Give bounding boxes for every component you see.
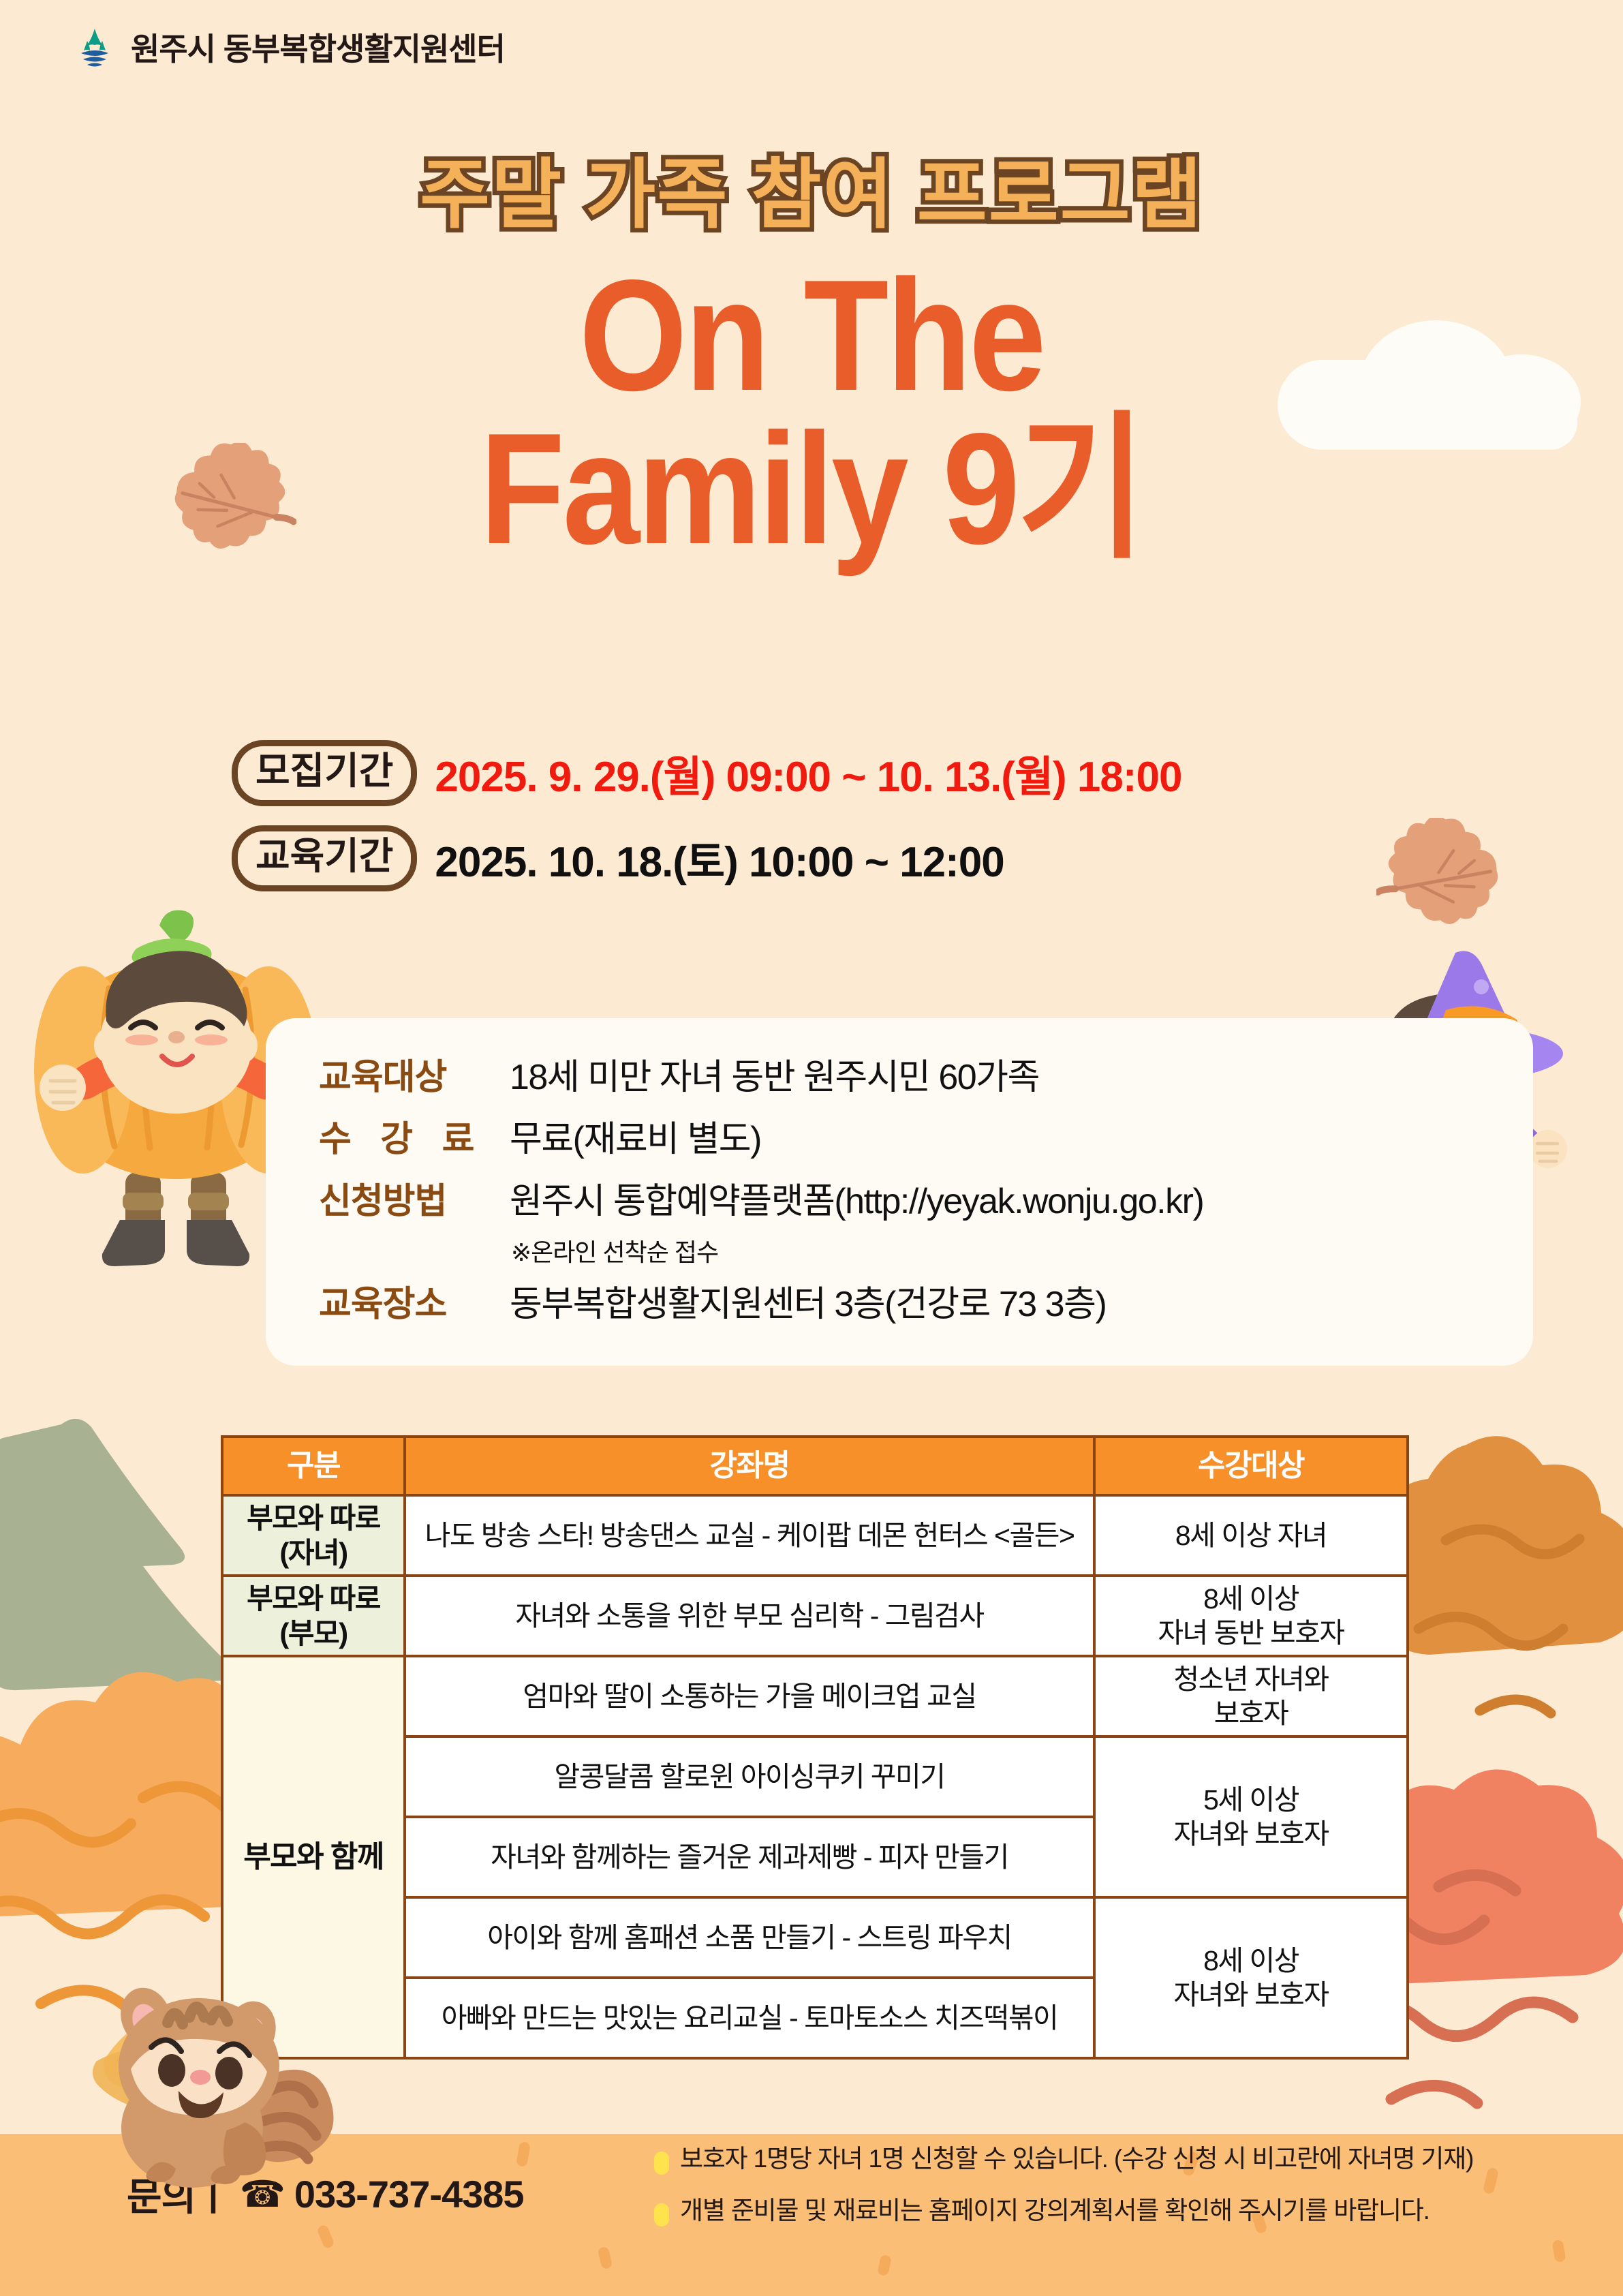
table-row: 부모와 함께 엄마와 딸이 소통하는 가을 메이크업 교실 청소년 자녀와보호자 — [222, 1656, 1408, 1736]
info-row-target: 교육대상 18세 미만 자녀 동반 원주시민 60가족 — [319, 1048, 1533, 1099]
info-value-target: 18세 미만 자녀 동반 원주시민 60가족 — [510, 1048, 1039, 1099]
footer-note-item: 보호자 1명당 자녀 1명 신청할 수 있습니다. (수강 신청 시 비고란에 … — [654, 2143, 1567, 2175]
recruit-period-row: 모집기간 2025. 9. 29.(월) 09:00 ~ 10. 13.(월) … — [232, 740, 1181, 806]
mountain-water-logo-icon — [74, 26, 116, 68]
program-title-line1: On The — [97, 259, 1526, 412]
info-value-fee: 무료(재료비 별도) — [510, 1110, 761, 1161]
table-cell-target: 8세 이상자녀 동반 보호자 — [1094, 1576, 1408, 1656]
info-value-place: 동부복합생활지원센터 3층(건강로 73 3층) — [510, 1275, 1106, 1326]
table-row: 부모와 따로(부모) 자녀와 소통을 위한 부모 심리학 - 그림검사 8세 이… — [222, 1576, 1408, 1656]
course-table-wrapper: 구분 강좌명 수강대상 부모와 따로(자녀) 나도 방송 스타! 방송댄스 교실… — [221, 1435, 1406, 2060]
table-header-group: 구분 — [222, 1437, 405, 1495]
info-label-fee: 수 강 료 — [319, 1110, 510, 1161]
table-cell-course: 아빠와 만드는 맛있는 요리교실 - 토마토소스 치즈떡볶이 — [405, 1978, 1094, 2058]
table-header-course: 강좌명 — [405, 1437, 1094, 1495]
info-label-place: 교육장소 — [319, 1275, 510, 1326]
table-cell-course: 나도 방송 스타! 방송댄스 교실 - 케이팝 데몬 헌터스 <골든> — [405, 1495, 1094, 1576]
info-panel: 교육대상 18세 미만 자녀 동반 원주시민 60가족 수 강 료 무료(재료비… — [266, 1018, 1533, 1366]
table-cell-course: 아이와 함께 홈패션 소품 만들기 - 스트링 파우치 — [405, 1897, 1094, 1978]
education-period-row: 교육기간 2025. 10. 18.(토) 10:00 ~ 12:00 — [232, 825, 1181, 891]
organization-name: 원주시 동부복합생활지원센터 — [131, 25, 505, 70]
footer-notes: 보호자 1명당 자녀 1명 신청할 수 있습니다. (수강 신청 시 비고란에 … — [654, 2143, 1567, 2248]
recruit-period-value: 2025. 9. 29.(월) 09:00 ~ 10. 13.(월) 18:00 — [435, 742, 1181, 803]
table-cell-target: 5세 이상자녀와 보호자 — [1094, 1736, 1408, 1897]
table-cell-course: 알콩달콤 할로윈 아이싱쿠키 꾸미기 — [405, 1736, 1094, 1817]
info-note-online: ※온라인 선착순 접수 — [511, 1233, 1533, 1268]
program-title: On The Family 9기 — [97, 259, 1526, 566]
course-table: 구분 강좌명 수강대상 부모와 따로(자녀) 나도 방송 스타! 방송댄스 교실… — [221, 1435, 1409, 2060]
footer-note-text: 보호자 1명당 자녀 1명 신청할 수 있습니다. (수강 신청 시 비고란에 … — [680, 2143, 1473, 2175]
table-cell-course: 자녀와 함께하는 즐거운 제과제빵 - 피자 만들기 — [405, 1817, 1094, 1897]
info-row-apply: 신청방법 원주시 통합예약플랫폼(http://yeyak.wonju.go.k… — [319, 1172, 1533, 1223]
table-header-target: 수강대상 — [1094, 1437, 1408, 1495]
table-cell-course: 자녀와 소통을 위한 부모 심리학 - 그림검사 — [405, 1576, 1094, 1656]
bullet-icon — [654, 2203, 669, 2226]
table-cell-target: 8세 이상자녀와 보호자 — [1094, 1897, 1408, 2058]
poster-root: 원주시 동부복합생활지원센터 주말 가족 참여 프로그램 On The Fami… — [0, 0, 1623, 2296]
table-cell-target: 8세 이상 자녀 — [1094, 1495, 1408, 1576]
bullet-icon — [654, 2152, 669, 2175]
header: 원주시 동부복합생활지원센터 — [74, 25, 505, 70]
info-label-target: 교육대상 — [319, 1048, 510, 1099]
table-header-row: 구분 강좌명 수강대상 — [222, 1437, 1408, 1495]
education-period-label: 교육기간 — [232, 825, 417, 891]
info-value-apply[interactable]: 원주시 통합예약플랫폼(http://yeyak.wonju.go.kr) — [510, 1172, 1203, 1223]
footer-note-text: 개별 준비물 및 재료비는 홈페이지 강의계획서를 확인해 주시기를 바랍니다. — [680, 2195, 1429, 2226]
table-cell-group: 부모와 따로(자녀) — [222, 1495, 405, 1576]
table-cell-group: 부모와 따로(부모) — [222, 1576, 405, 1656]
info-label-apply: 신청방법 — [319, 1172, 510, 1223]
table-cell-course: 엄마와 딸이 소통하는 가을 메이크업 교실 — [405, 1656, 1094, 1736]
footer-note-item: 개별 준비물 및 재료비는 홈페이지 강의계획서를 확인해 주시기를 바랍니다. — [654, 2195, 1567, 2226]
date-section: 모집기간 2025. 9. 29.(월) 09:00 ~ 10. 13.(월) … — [232, 740, 1181, 910]
program-title-line2: Family 9기 — [97, 412, 1526, 566]
education-period-value: 2025. 10. 18.(토) 10:00 ~ 12:00 — [435, 827, 1004, 889]
recruit-period-label: 모집기간 — [232, 740, 417, 806]
squirrel-character — [65, 1935, 338, 2198]
oak-leaf-right-icon — [1376, 818, 1506, 934]
info-row-fee: 수 강 료 무료(재료비 별도) — [319, 1110, 1533, 1161]
table-cell-target: 청소년 자녀와보호자 — [1094, 1656, 1408, 1736]
program-subtitle: 주말 가족 참여 프로그램 — [0, 133, 1623, 243]
table-row: 부모와 따로(자녀) 나도 방송 스타! 방송댄스 교실 - 케이팝 데몬 헌터… — [222, 1495, 1408, 1576]
info-row-place: 교육장소 동부복합생활지원센터 3층(건강로 73 3층) — [319, 1275, 1533, 1326]
